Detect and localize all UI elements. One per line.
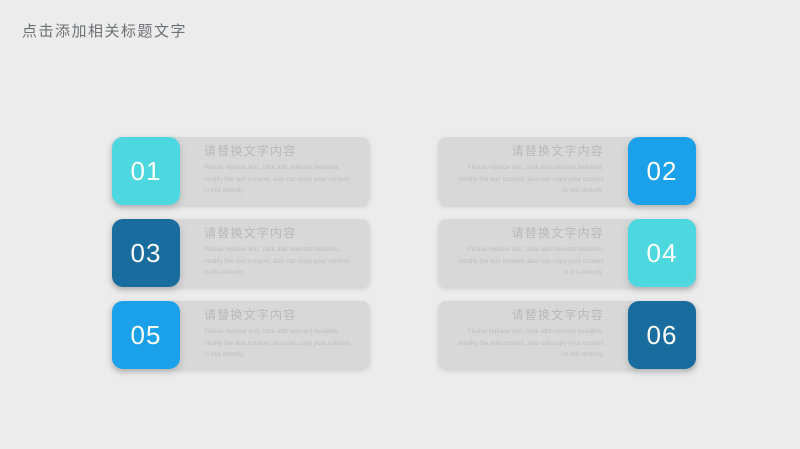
- card-number-badge[interactable]: 04: [628, 219, 696, 287]
- card-heading: 请替换文字内容: [204, 309, 354, 322]
- card-number-badge[interactable]: 02: [628, 137, 696, 205]
- card-description: Please replace text, click add relevant …: [454, 244, 604, 278]
- card-description: Please replace text, click add relevant …: [204, 162, 354, 196]
- card-description: Please replace text, click add relevant …: [204, 244, 354, 278]
- card-heading: 请替换文字内容: [454, 145, 604, 158]
- card-06[interactable]: 请替换文字内容Please replace text, click add re…: [438, 301, 696, 369]
- card-01[interactable]: 请替换文字内容Please replace text, click add re…: [112, 137, 370, 205]
- card-grid: 请替换文字内容Please replace text, click add re…: [112, 137, 696, 369]
- card-heading: 请替换文字内容: [204, 227, 354, 240]
- card-02[interactable]: 请替换文字内容Please replace text, click add re…: [438, 137, 696, 205]
- card-03[interactable]: 请替换文字内容Please replace text, click add re…: [112, 219, 370, 287]
- card-heading: 请替换文字内容: [204, 145, 354, 158]
- card-heading: 请替换文字内容: [454, 227, 604, 240]
- page-title: 点击添加相关标题文字: [22, 20, 187, 41]
- card-number-badge[interactable]: 01: [112, 137, 180, 205]
- card-description: Please replace text, click add relevant …: [454, 162, 604, 196]
- card-description: Please replace text, click add relevant …: [204, 326, 354, 360]
- card-heading: 请替换文字内容: [454, 309, 604, 322]
- card-04[interactable]: 请替换文字内容Please replace text, click add re…: [438, 219, 696, 287]
- card-number-badge[interactable]: 06: [628, 301, 696, 369]
- card-number-badge[interactable]: 03: [112, 219, 180, 287]
- card-05[interactable]: 请替换文字内容Please replace text, click add re…: [112, 301, 370, 369]
- card-number-badge[interactable]: 05: [112, 301, 180, 369]
- card-description: Please replace text, click add relevant …: [454, 326, 604, 360]
